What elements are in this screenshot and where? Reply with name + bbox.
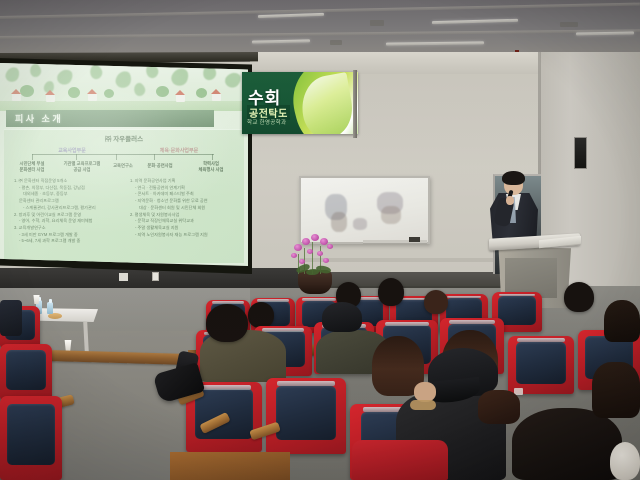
audience-head: [206, 304, 248, 342]
ceiling-vent: [370, 20, 384, 26]
slide-column-left: 1. ㈜ 문화센터 직접운영 5개소 - 평촌, 의정부, 다산점, 목동점, …: [14, 178, 122, 245]
tree-icon: [68, 87, 80, 98]
audience-head: [512, 408, 622, 480]
audience-torso: [0, 300, 22, 336]
wall-fixture: [119, 273, 128, 281]
presenter-hand: [506, 196, 514, 205]
fluorescent-tube: [258, 13, 324, 18]
seat-hinge: [499, 294, 535, 297]
orchid-bloom: [323, 258, 329, 263]
fluorescent-tube: [576, 31, 634, 35]
org-box: 학력사업체육행사 사업: [188, 161, 234, 173]
leaf-icon: [169, 65, 191, 88]
audience-head: [610, 442, 640, 480]
seat-hinge: [277, 381, 335, 386]
baseboard: [0, 268, 300, 288]
leaf-icon: [55, 66, 76, 87]
slide-group-left: 교육사업부문: [42, 147, 102, 154]
banner-pole: [353, 70, 357, 138]
fluorescent-tube: [252, 39, 310, 43]
slide-body: ㈜ 자우플러스 교육사업부문 체육·문화사업부문 시민단체 부설문화센터 사업 …: [4, 129, 244, 263]
baseball-cap-icon: [322, 302, 362, 332]
orchid-bloom: [291, 253, 297, 258]
house-icon: [46, 94, 55, 102]
seat-pad: [516, 342, 566, 384]
ceiling-beam: [0, 3, 640, 19]
fluorescent-tube: [432, 19, 518, 24]
tree-icon: [104, 89, 114, 98]
leaf-icon: [29, 63, 43, 78]
slide-title: 피사 소개: [6, 112, 63, 125]
orchid-bloom: [307, 249, 313, 254]
presenter-hair: [502, 171, 525, 185]
audience-head: [378, 278, 404, 306]
org-connector: [32, 154, 214, 155]
seat-hinge: [262, 328, 304, 332]
leaf-icon: [4, 65, 21, 84]
seat-pad: [6, 350, 46, 390]
seat[interactable]: [0, 396, 62, 480]
leaf-icon: [132, 82, 147, 98]
lecture-hall-photo: 피사 소개 ㈜ 자우플러스 교육사업부문 체육·문화사업부문 시민단체 부설문화…: [0, 0, 640, 480]
house-icon: [212, 93, 221, 101]
seat-hinge: [302, 298, 335, 301]
table-leg: [83, 322, 89, 352]
orchid-bloom: [317, 251, 323, 256]
audience-hair: [478, 390, 520, 424]
org-connector: [116, 154, 117, 160]
water-bottle: [47, 302, 53, 314]
whiteboard-mark: [381, 206, 401, 224]
slide-group-right: 체육·문화사업부문: [144, 147, 214, 154]
seat-back: [352, 440, 448, 480]
fluorescent-tube: [386, 41, 484, 45]
house-icon: [176, 94, 185, 102]
whiteboard-mark: [353, 218, 367, 230]
org-connector: [212, 154, 213, 160]
audience-hand: [414, 382, 436, 402]
house-icon: [12, 93, 21, 101]
wooden-step: [170, 452, 290, 480]
seat[interactable]: [266, 378, 346, 454]
ceiling-vent: [560, 22, 578, 27]
slide-column-right: 1. 지역 문화공연사업 기획 - 연극 · 전통공연의 연계기획 - 콘서트 …: [130, 178, 240, 238]
wrist-bracelet: [410, 400, 436, 410]
ceiling-vent: [330, 40, 342, 45]
slide-heading: ㈜ 자우플러스: [4, 133, 244, 143]
orchid-bloom: [302, 238, 310, 245]
seat-hinge: [449, 320, 495, 324]
seat-hinge: [517, 338, 565, 342]
seat[interactable]: [0, 344, 52, 400]
seat-hinge: [447, 296, 482, 299]
seat-hinge: [197, 385, 252, 390]
audience-head: [592, 362, 640, 418]
org-box: 문화·공연사업: [142, 163, 178, 169]
org-connector: [32, 154, 33, 160]
slide-header-image: [0, 63, 248, 111]
orchid-arrangement: [286, 232, 342, 294]
ceiling-beam: [0, 29, 640, 39]
projected-slide: 피사 소개 ㈜ 자우플러스 교육사업부문 체육·문화사업부문 시민단체 부설문화…: [0, 63, 248, 266]
audience-head: [248, 302, 274, 328]
audience-head: [604, 300, 640, 342]
seat-pad: [276, 386, 337, 441]
wall-speaker-icon: [574, 137, 587, 169]
seat[interactable]: [508, 336, 574, 394]
power-outlet: [152, 272, 159, 281]
leaf-icon: [88, 63, 105, 81]
org-box: 기관별 교육프로그램공급 사업: [58, 161, 106, 173]
orchid-bloom: [311, 234, 319, 241]
leaf-icon: [114, 69, 133, 89]
banner-caption: 학교 한영공학과: [247, 118, 286, 126]
audience-head: [424, 290, 448, 314]
org-box: 교육연구소: [108, 163, 138, 169]
house-icon: [88, 93, 97, 101]
tree-icon: [196, 88, 207, 98]
slide-title-bar: 피사 소개: [6, 110, 214, 127]
audience-head: [564, 282, 594, 312]
whiteboard-mark: [331, 212, 347, 232]
orchid-bloom: [294, 244, 302, 251]
org-connector: [76, 154, 77, 160]
tree-icon: [156, 86, 169, 97]
tree-icon: [20, 85, 34, 97]
org-box: 시민단체 부설문화센터 사업: [10, 161, 54, 173]
orchid-bloom: [327, 244, 333, 249]
seat-pad: [7, 404, 54, 464]
wall-banner: 수회 공전탁도 학교 한영공학과: [242, 72, 358, 134]
org-connector: [154, 154, 155, 160]
seat-hinge: [385, 322, 430, 326]
leaf-icon: [222, 69, 243, 90]
whiteboard-eraser: [409, 237, 420, 242]
